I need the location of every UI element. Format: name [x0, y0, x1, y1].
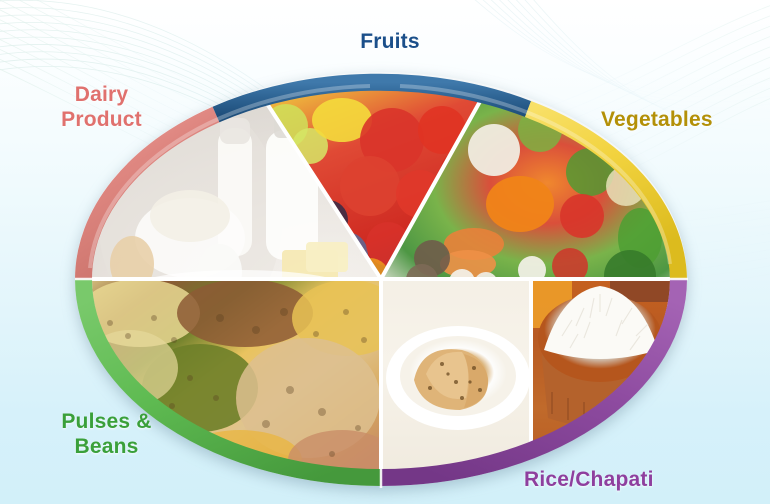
label-vegetables: Vegetables	[601, 108, 761, 133]
label-dairy-product: Dairy Product	[34, 83, 169, 133]
label-pulses-beans: Pulses & Beans	[24, 410, 189, 460]
diet-plate-infographic: Dairy Product Fruits Vegetables Pulses &…	[0, 0, 770, 504]
label-fruits: Fruits	[300, 30, 480, 55]
segment-photo-rice	[528, 268, 692, 490]
label-rice-chapati: Rice/Chapati	[524, 468, 724, 493]
